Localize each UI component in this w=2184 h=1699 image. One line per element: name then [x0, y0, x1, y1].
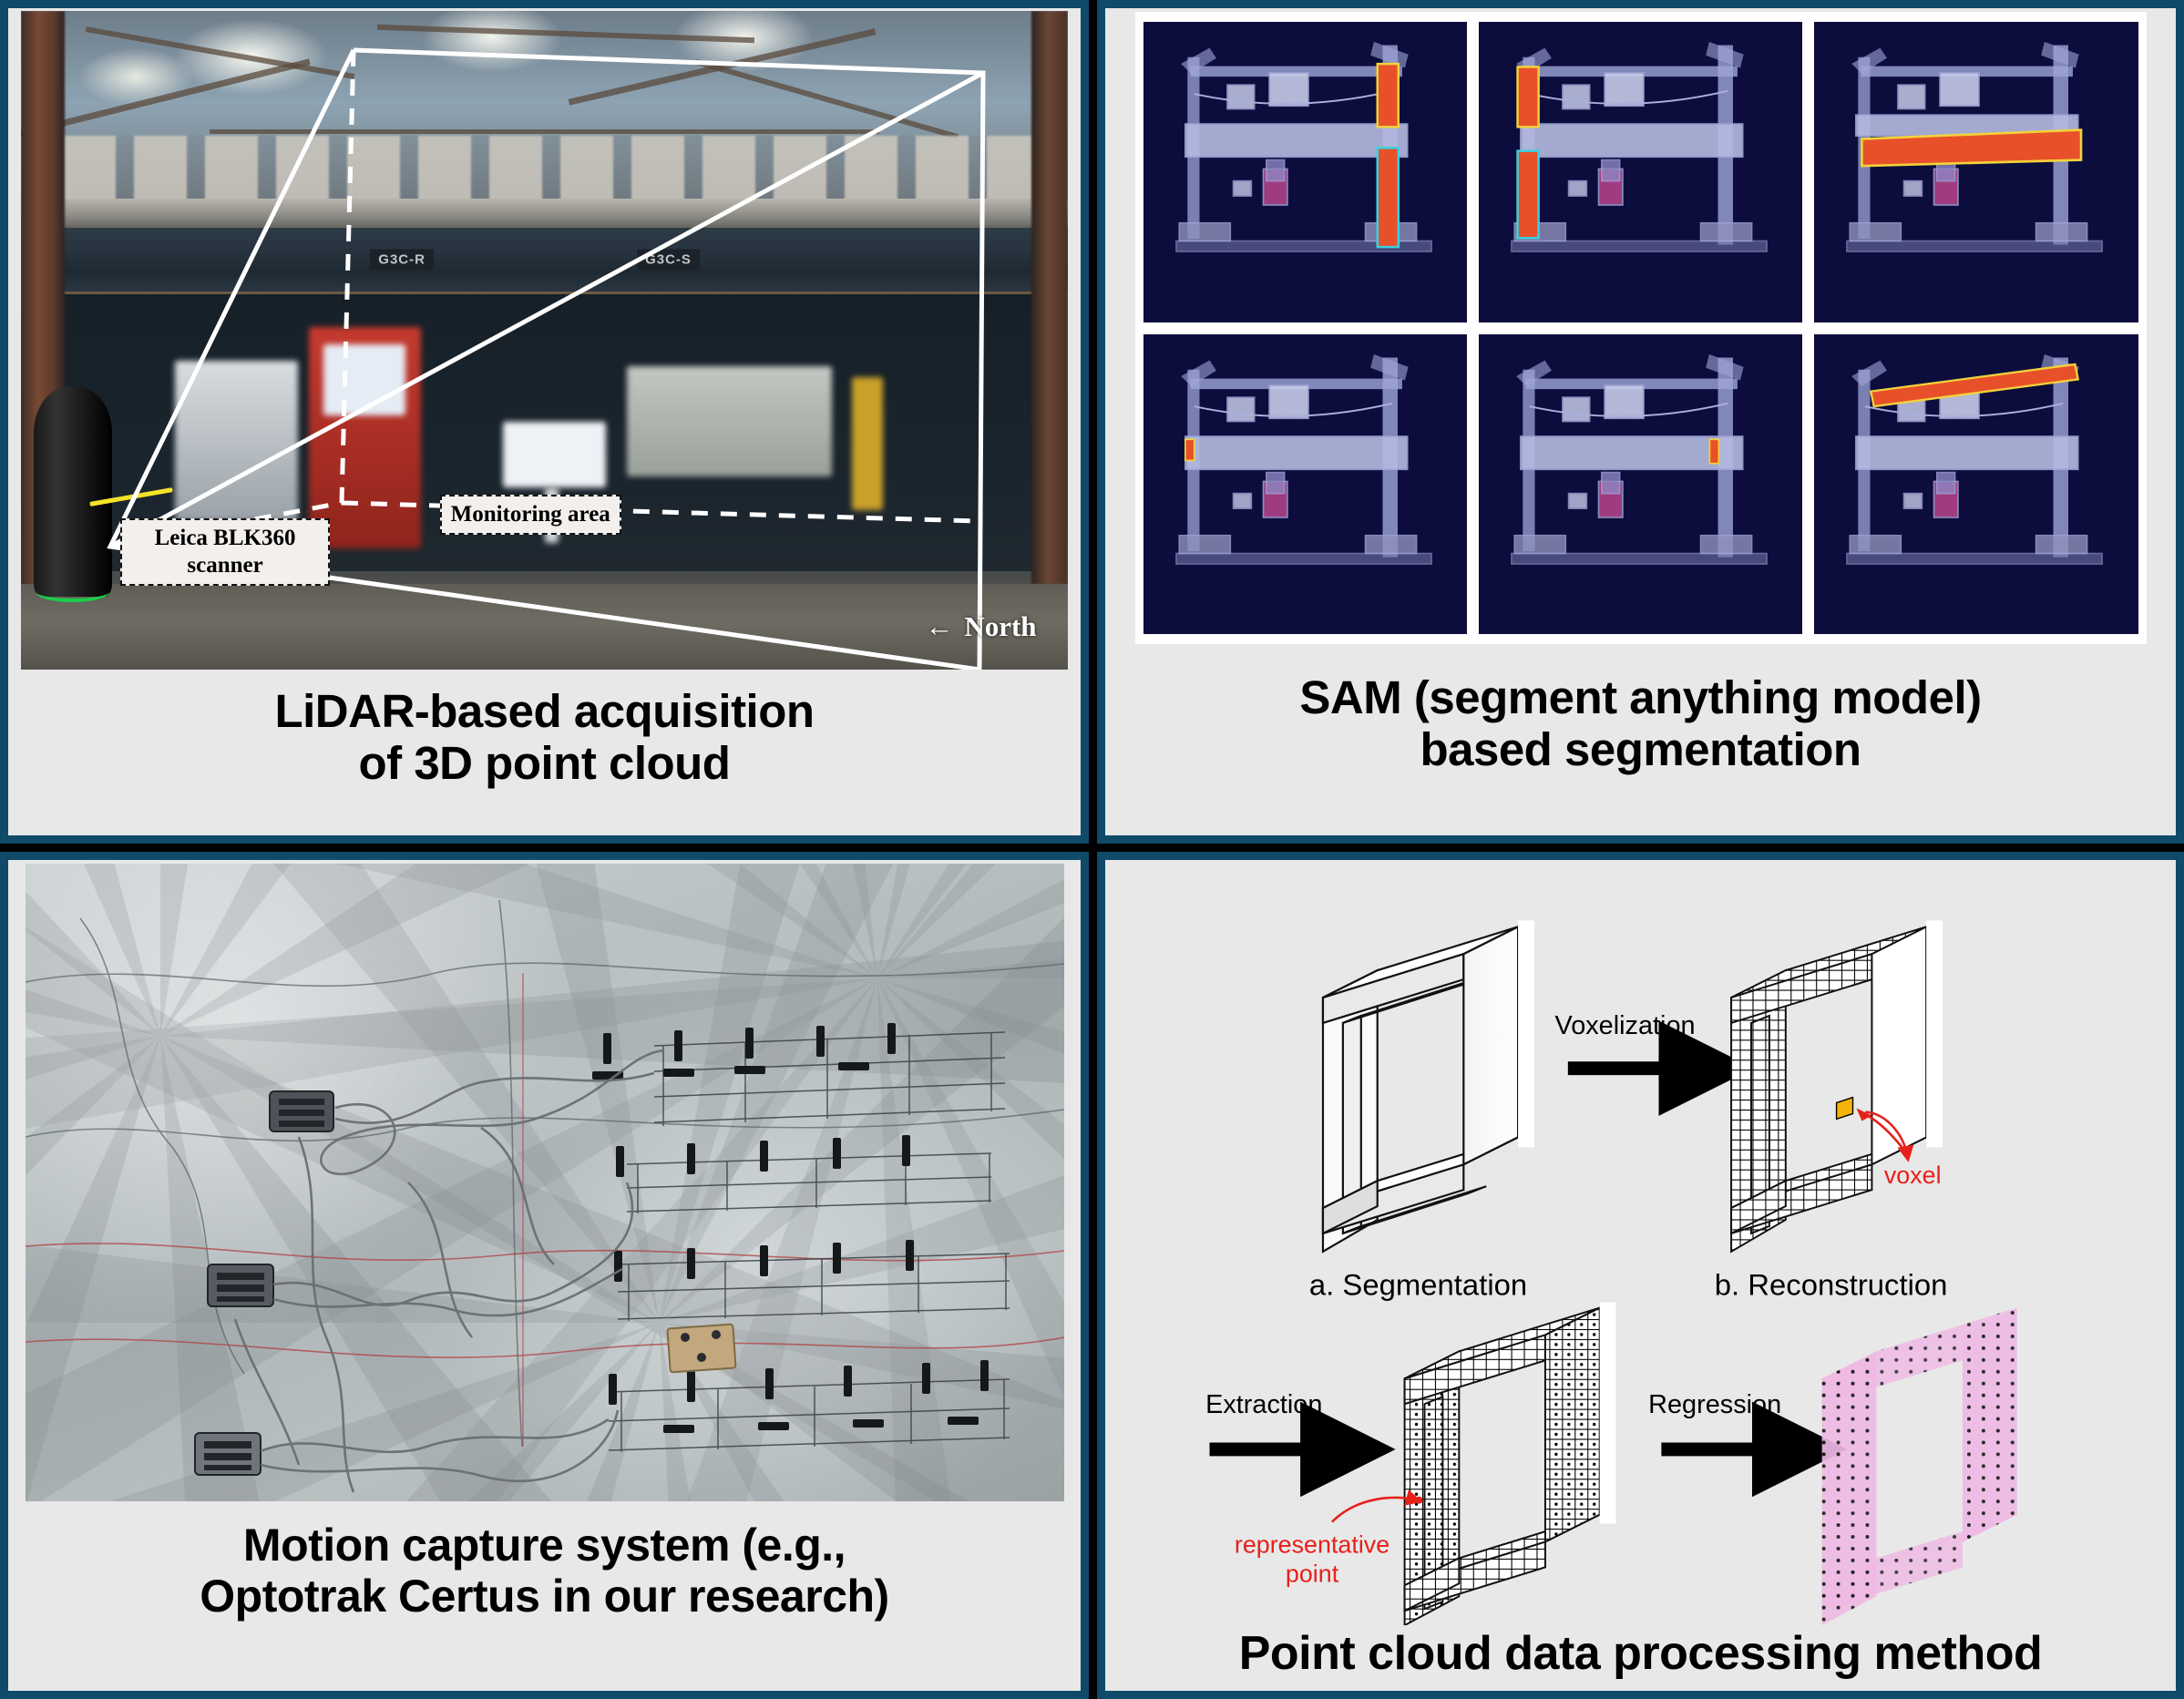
segment-highlight [1377, 64, 1398, 247]
caption-lidar: LiDAR-based acquisition of 3D point clou… [274, 685, 814, 789]
step-a-ibeam [1323, 920, 1534, 1251]
segment-highlight [1709, 439, 1718, 463]
monitor-screen [503, 422, 606, 488]
voxel-highlight [1837, 1098, 1853, 1120]
mocap-sensor-layout [26, 864, 1064, 1501]
arrow-regression-label: Regression [1648, 1390, 1781, 1419]
sam-tile-upper-beam-highlight [1814, 334, 2138, 635]
step-b-voxelized [1731, 920, 1943, 1251]
panel-point-cloud-processing: a. Segmentation Voxelization [1097, 852, 2184, 1699]
upper-slab [31, 199, 1068, 226]
rep-point-callout-line2: point [1286, 1560, 1339, 1587]
point-cloud-render [1814, 334, 2138, 635]
motion-capture-photo [26, 864, 1064, 1501]
steel-beam: G3C-R G3C-S [42, 225, 1068, 294]
step-a-label: a. Segmentation [1309, 1268, 1527, 1302]
arrow-regression: Regression [1648, 1390, 1781, 1449]
point-cloud-render [1814, 22, 2138, 322]
rep-point-callout-line1: representative [1235, 1530, 1389, 1558]
caption-sam: SAM (segment anything model) based segme… [1299, 671, 1981, 775]
caption-processing: Point cloud data processing method [1239, 1627, 2043, 1680]
lidar-lab-photo: G3C-R G3C-S [21, 11, 1068, 670]
caption-lidar-line2: of 3D point cloud [274, 737, 814, 789]
step-b-label: b. Reconstruction [1715, 1268, 1948, 1302]
lab-equipment [627, 366, 832, 476]
caption-mocap-line1: Motion capture system (e.g., [200, 1520, 888, 1571]
lab-floor [21, 584, 1068, 670]
sam-tile-right-column-highlight [1143, 22, 1467, 322]
sam-tile-lower-beam-highlight [1814, 22, 2138, 322]
segment-highlight [1517, 67, 1538, 238]
caption-sam-line1: SAM (segment anything model) [1299, 671, 1981, 723]
scanner-label-line1: Leica BLK360 [131, 525, 319, 552]
scanner-label-line2: scanner [131, 552, 319, 579]
segment-highlight [1184, 439, 1194, 460]
point-cloud-render [1143, 334, 1467, 635]
concrete-weight-blocks [63, 136, 1047, 201]
roof-truss [210, 129, 879, 134]
north-label: North [964, 610, 1036, 643]
arrow-extraction: Extraction [1205, 1390, 1322, 1449]
step-d-approximation [1822, 1308, 2017, 1625]
scanner-callout-label: Leica BLK360 scanner [120, 518, 330, 586]
point-cloud-render [1479, 22, 1802, 322]
scanner-green-ring [36, 580, 108, 601]
caption-motion-capture: Motion capture system (e.g., Optotrak Ce… [200, 1520, 888, 1622]
panel-lidar-acquisition: G3C-R G3C-S [0, 0, 1089, 844]
monitoring-area-label: Monitoring area [440, 495, 621, 535]
sam-tile-right-beam-edge-highlight [1479, 334, 1802, 635]
beam-tag-right: G3C-S [637, 249, 700, 270]
sam-tile-left-column-highlight [1479, 22, 1802, 322]
caption-sam-line2: based segmentation [1299, 723, 1981, 775]
ladder [852, 377, 883, 510]
monitor-screen [323, 344, 405, 416]
arrow-voxelization: Voxelization [1555, 1011, 1696, 1069]
right-support-column [1031, 11, 1068, 584]
arrow-voxelization-label: Voxelization [1555, 1011, 1696, 1040]
voxel-callout-label: voxel [1884, 1162, 1942, 1189]
north-arrow-icon: ← [925, 610, 953, 643]
panel-sam-segmentation: SAM (segment anything model) based segme… [1097, 0, 2184, 844]
figure-grid: G3C-R G3C-S [0, 0, 2184, 1699]
lab-equipment [175, 361, 298, 521]
north-direction-indicator: ← North [925, 610, 1036, 643]
beam-tag-left: G3C-R [370, 249, 434, 270]
point-cloud-render [1143, 22, 1467, 322]
point-cloud-render [1479, 334, 1802, 635]
leica-scanner-device [34, 386, 112, 597]
caption-lidar-line1: LiDAR-based acquisition [274, 685, 814, 737]
panel-motion-capture: Motion capture system (e.g., Optotrak Ce… [0, 852, 1089, 1699]
processing-pipeline-diagram: a. Segmentation Voxelization [1105, 860, 2176, 1625]
arrow-extraction-label: Extraction [1205, 1390, 1322, 1419]
sam-tile-left-beam-edge-highlight [1143, 334, 1467, 635]
caption-mocap-line2: Optotrak Certus in our research) [200, 1571, 888, 1622]
step-c-geometric [1332, 1303, 1616, 1625]
sam-tile-grid [1135, 12, 2147, 644]
